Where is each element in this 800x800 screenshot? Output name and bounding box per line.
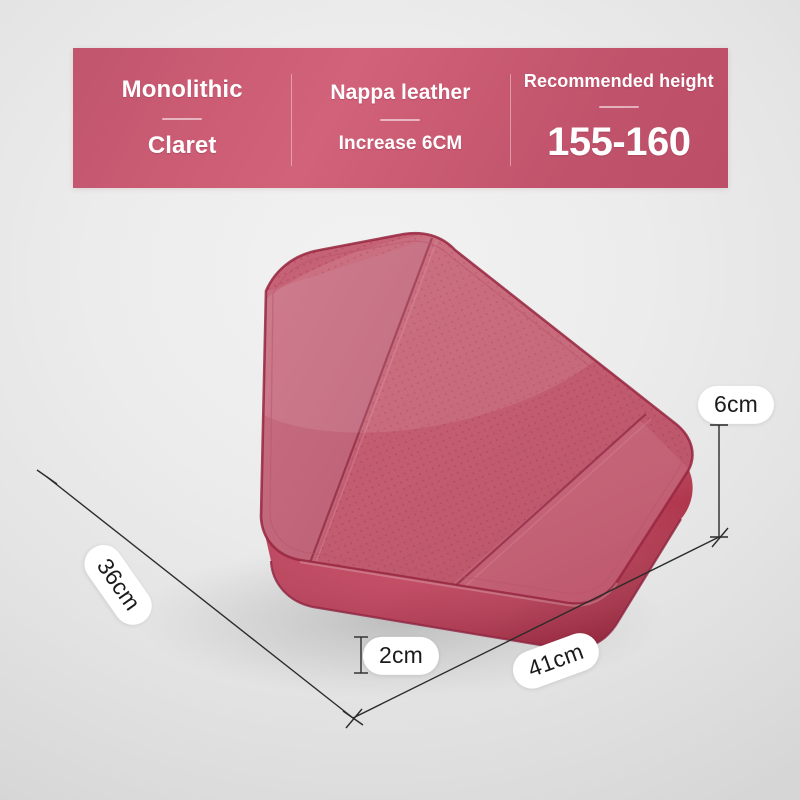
spec-cell-recommended-height: Recommended height 155-160 — [510, 48, 728, 188]
cushion-bottom-edge — [271, 519, 681, 650]
dimension-label-6cm: 6cm — [698, 386, 774, 424]
cushion-seam-upper — [296, 238, 432, 600]
cushion-side-band-shading — [261, 424, 693, 650]
spec-title-recommended-height: Recommended height — [524, 71, 714, 92]
cushion-panel-upper — [240, 238, 432, 600]
spec-banner: Monolithic Claret Nappa leather Increase… — [73, 48, 728, 188]
cushion-panel-upper-smooth — [230, 220, 455, 620]
spec-cell-material: Nappa leather Increase 6CM — [291, 48, 509, 188]
cushion-seam-lower-highlight — [429, 419, 651, 619]
spec-cell-style: Monolithic Claret — [73, 48, 291, 188]
cushion-band-highlight — [300, 562, 617, 606]
cushion-seam-upper-highlight — [301, 240, 437, 602]
cushion-top-surface — [261, 233, 692, 603]
spec-value-recommended-height: 155-160 — [547, 120, 690, 165]
dimension-line-36cm — [47, 477, 353, 718]
dimension-tick-36cm-end — [343, 711, 363, 725]
dimension-tick-41cm-start — [346, 709, 362, 728]
dimension-label-36cm: 36cm — [77, 538, 159, 633]
cushion-seam-lower — [424, 414, 646, 614]
horizontal-rule-icon — [162, 118, 202, 120]
horizontal-rule-icon — [380, 119, 420, 121]
cushion-top-piping — [261, 233, 692, 603]
dimension-tick-36cm-start — [37, 470, 57, 484]
cushion-perforation-texture — [230, 220, 730, 620]
dimension-tick-41cm-end — [712, 528, 728, 547]
product-spec-card: Monolithic Claret Nappa leather Increase… — [0, 0, 800, 800]
spec-value-material: Increase 6CM — [339, 133, 463, 155]
spec-title-material: Nappa leather — [330, 81, 470, 105]
dimension-label-41cm: 41cm — [508, 628, 605, 694]
cushion-welt-line — [270, 241, 682, 593]
cushion-side-band — [261, 424, 693, 650]
horizontal-rule-icon — [599, 106, 639, 108]
spec-value-style: Claret — [148, 132, 217, 160]
dimension-line-41cm — [353, 537, 719, 718]
cushion-top-sheen — [205, 193, 655, 466]
spec-title-style: Monolithic — [122, 76, 243, 104]
dimension-label-2cm: 2cm — [363, 637, 439, 675]
